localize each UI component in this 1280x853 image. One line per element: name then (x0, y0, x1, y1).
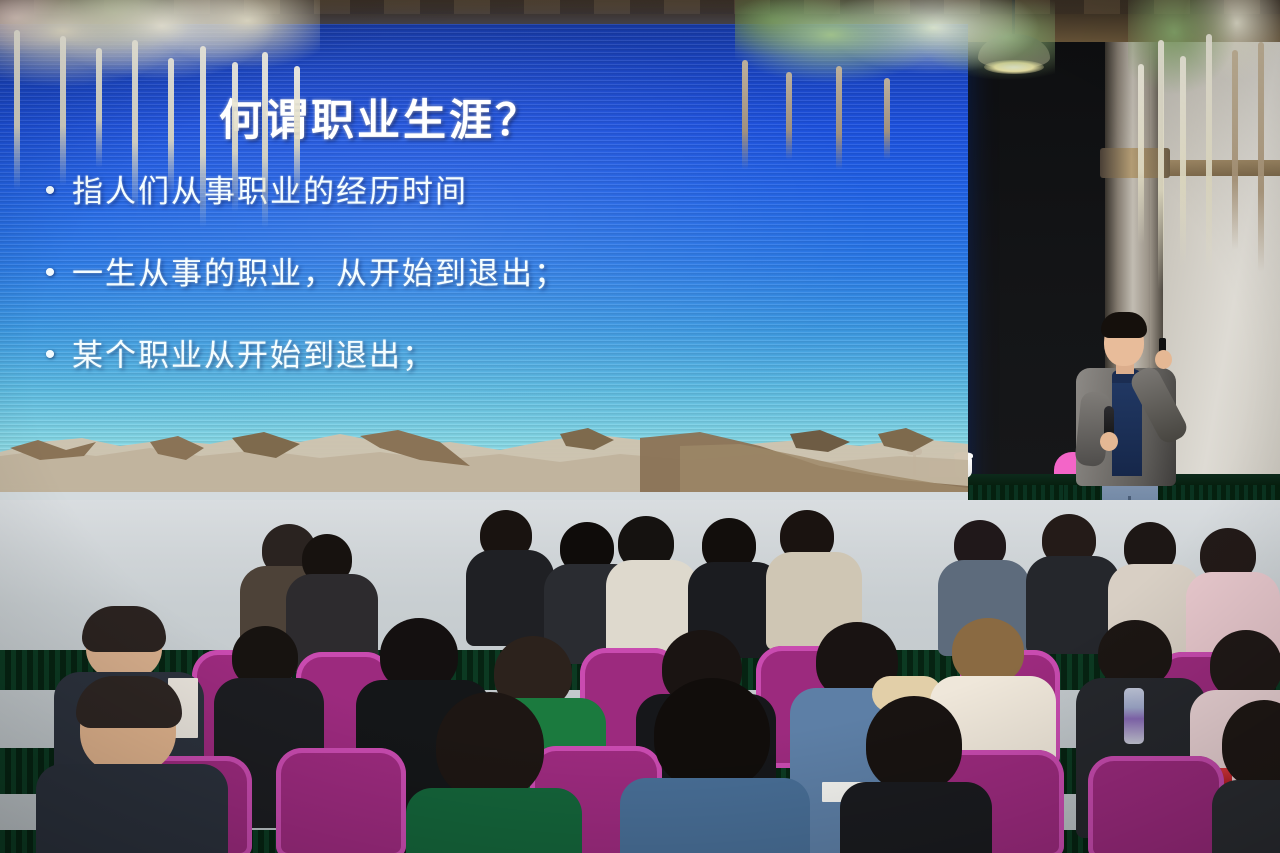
slide-bullet-list: • 指人们从事职业的经历时间 • 一生从事的职业，从开始到退出； • 某个职业从… (28, 174, 788, 420)
hanging-vine (132, 40, 138, 210)
lamp-glow (984, 60, 1044, 74)
head (866, 696, 962, 792)
hanging-vine (14, 30, 20, 190)
hanging-vine (200, 46, 206, 228)
presentation-photo-scene: 何谓职业生涯？ • 指人们从事职业的经历时间 • 一生从事的职业，从开始到退出；… (0, 0, 1280, 853)
head (952, 618, 1024, 684)
lamp-rod (1012, 0, 1015, 36)
torso (840, 782, 992, 853)
hanging-vine (96, 48, 102, 168)
hair (82, 606, 166, 652)
hanging-vine (1206, 34, 1212, 274)
torso (466, 550, 554, 646)
hanging-vine (1258, 42, 1264, 272)
ceiling-beam (0, 0, 1280, 14)
hanging-vine (1138, 64, 1144, 244)
led-screen: 何谓职业生涯？ • 指人们从事职业的经历时间 • 一生从事的职业，从开始到退出；… (0, 24, 968, 534)
hanging-vine (836, 66, 842, 170)
head (654, 678, 770, 790)
slide-bullet-item: • 一生从事的职业，从开始到退出； (28, 256, 788, 292)
slide-content: 何谓职业生涯？ • 指人们从事职业的经历时间 • 一生从事的职业，从开始到退出；… (0, 24, 968, 534)
hanging-vine (60, 36, 66, 186)
audience-area (0, 500, 1280, 853)
audience-chair (276, 748, 406, 853)
hanging-vine (786, 72, 792, 160)
hanging-vine (168, 58, 174, 194)
bullet-dot-icon: • (28, 256, 72, 290)
hanging-vine (1180, 56, 1186, 266)
hanging-vine (884, 78, 890, 160)
head (436, 692, 544, 800)
audience-chair (1088, 756, 1224, 853)
hanging-vine (1232, 50, 1238, 250)
torso (406, 788, 582, 853)
hanging-vine (262, 52, 268, 228)
torso (1212, 780, 1280, 853)
speaker-left-hand (1100, 432, 1118, 451)
slide-bullet-item: • 某个职业从开始到退出； (28, 338, 788, 374)
hair (76, 676, 182, 728)
hanging-vine (742, 60, 748, 170)
speaker-right-hand (1155, 350, 1172, 369)
water-bottle (1124, 688, 1144, 744)
hanging-vine (294, 66, 300, 198)
hanging-vine (1158, 40, 1164, 290)
hanging-vine (232, 62, 238, 212)
bullet-text: 一生从事的职业，从开始到退出； (72, 256, 567, 292)
slide-bullet-item: • 指人们从事职业的经历时间 (28, 174, 788, 210)
torso (620, 778, 810, 853)
torso (36, 764, 228, 853)
bullet-text: 某个职业从开始到退出； (72, 338, 435, 374)
speaker-hair (1101, 312, 1147, 338)
bullet-dot-icon: • (28, 338, 72, 372)
slide-title: 何谓职业生涯？ (0, 86, 760, 148)
